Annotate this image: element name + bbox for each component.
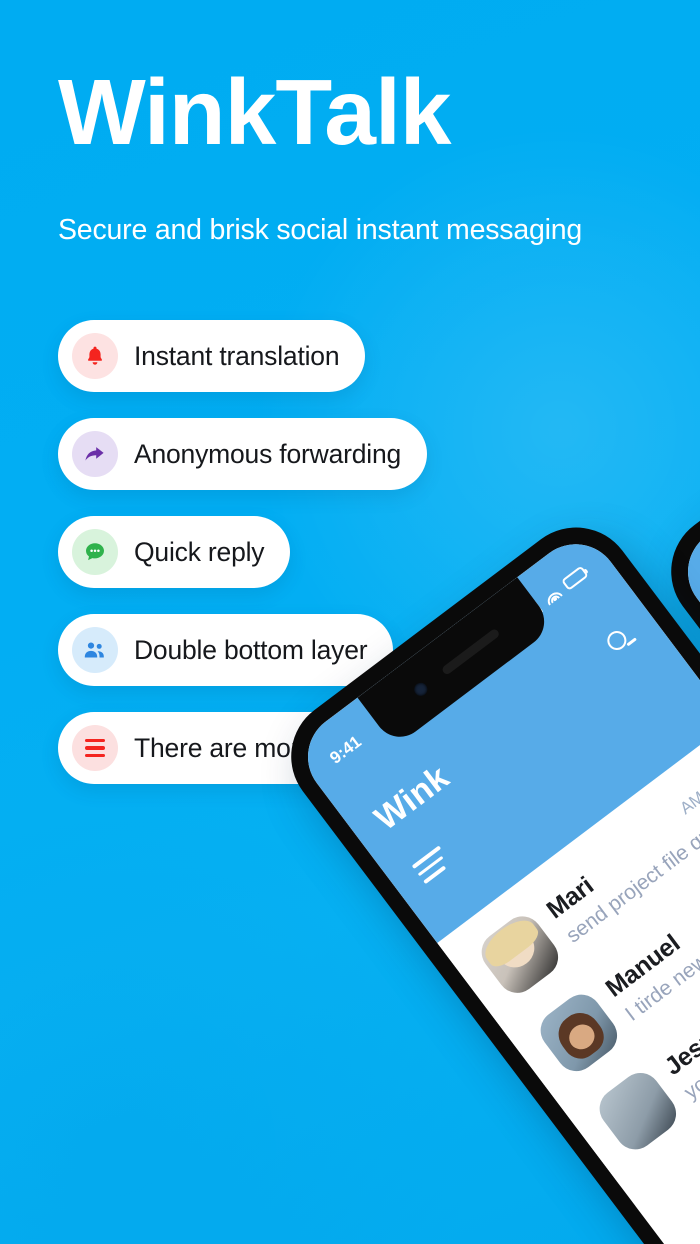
chat-bubble-icon: [72, 529, 118, 575]
promo-banner: WinkTalk Secure and brisk social instant…: [0, 0, 700, 1244]
feature-pill-quick-reply[interactable]: Quick reply: [58, 516, 290, 588]
chat-timestamp: AM11:10: [673, 758, 700, 819]
page-title: WinkTalk: [58, 66, 678, 159]
feature-label: Instant translation: [134, 341, 339, 372]
feature-pill-double-bottom-layer[interactable]: Double bottom layer: [58, 614, 393, 686]
app-name-label: Wink: [368, 758, 457, 839]
feature-label: Anonymous forwarding: [134, 439, 401, 470]
feature-label: Quick reply: [134, 537, 264, 568]
avatar: [533, 987, 625, 1079]
page-subtitle: Secure and brisk social instant messagin…: [58, 214, 698, 247]
avatar: [592, 1065, 684, 1157]
status-time: 9:41: [326, 732, 365, 768]
feature-pill-instant-translation[interactable]: Instant translation: [58, 320, 365, 392]
bell-icon: [72, 333, 118, 379]
search-icon[interactable]: [603, 623, 639, 659]
menu-lines-icon: [72, 725, 118, 771]
wifi-icon: [541, 585, 562, 606]
hamburger-menu-icon[interactable]: [412, 845, 453, 884]
front-camera-icon: [411, 680, 429, 698]
feature-label: Double bottom layer: [134, 635, 367, 666]
feature-pill-anonymous-forwarding[interactable]: Anonymous forwarding: [58, 418, 427, 490]
forward-icon: [72, 431, 118, 477]
avatar: [474, 908, 566, 1000]
battery-icon: [561, 565, 589, 590]
earpiece-speaker: [440, 628, 500, 676]
people-icon: [72, 627, 118, 673]
hero-text-block: WinkTalk: [58, 66, 678, 159]
